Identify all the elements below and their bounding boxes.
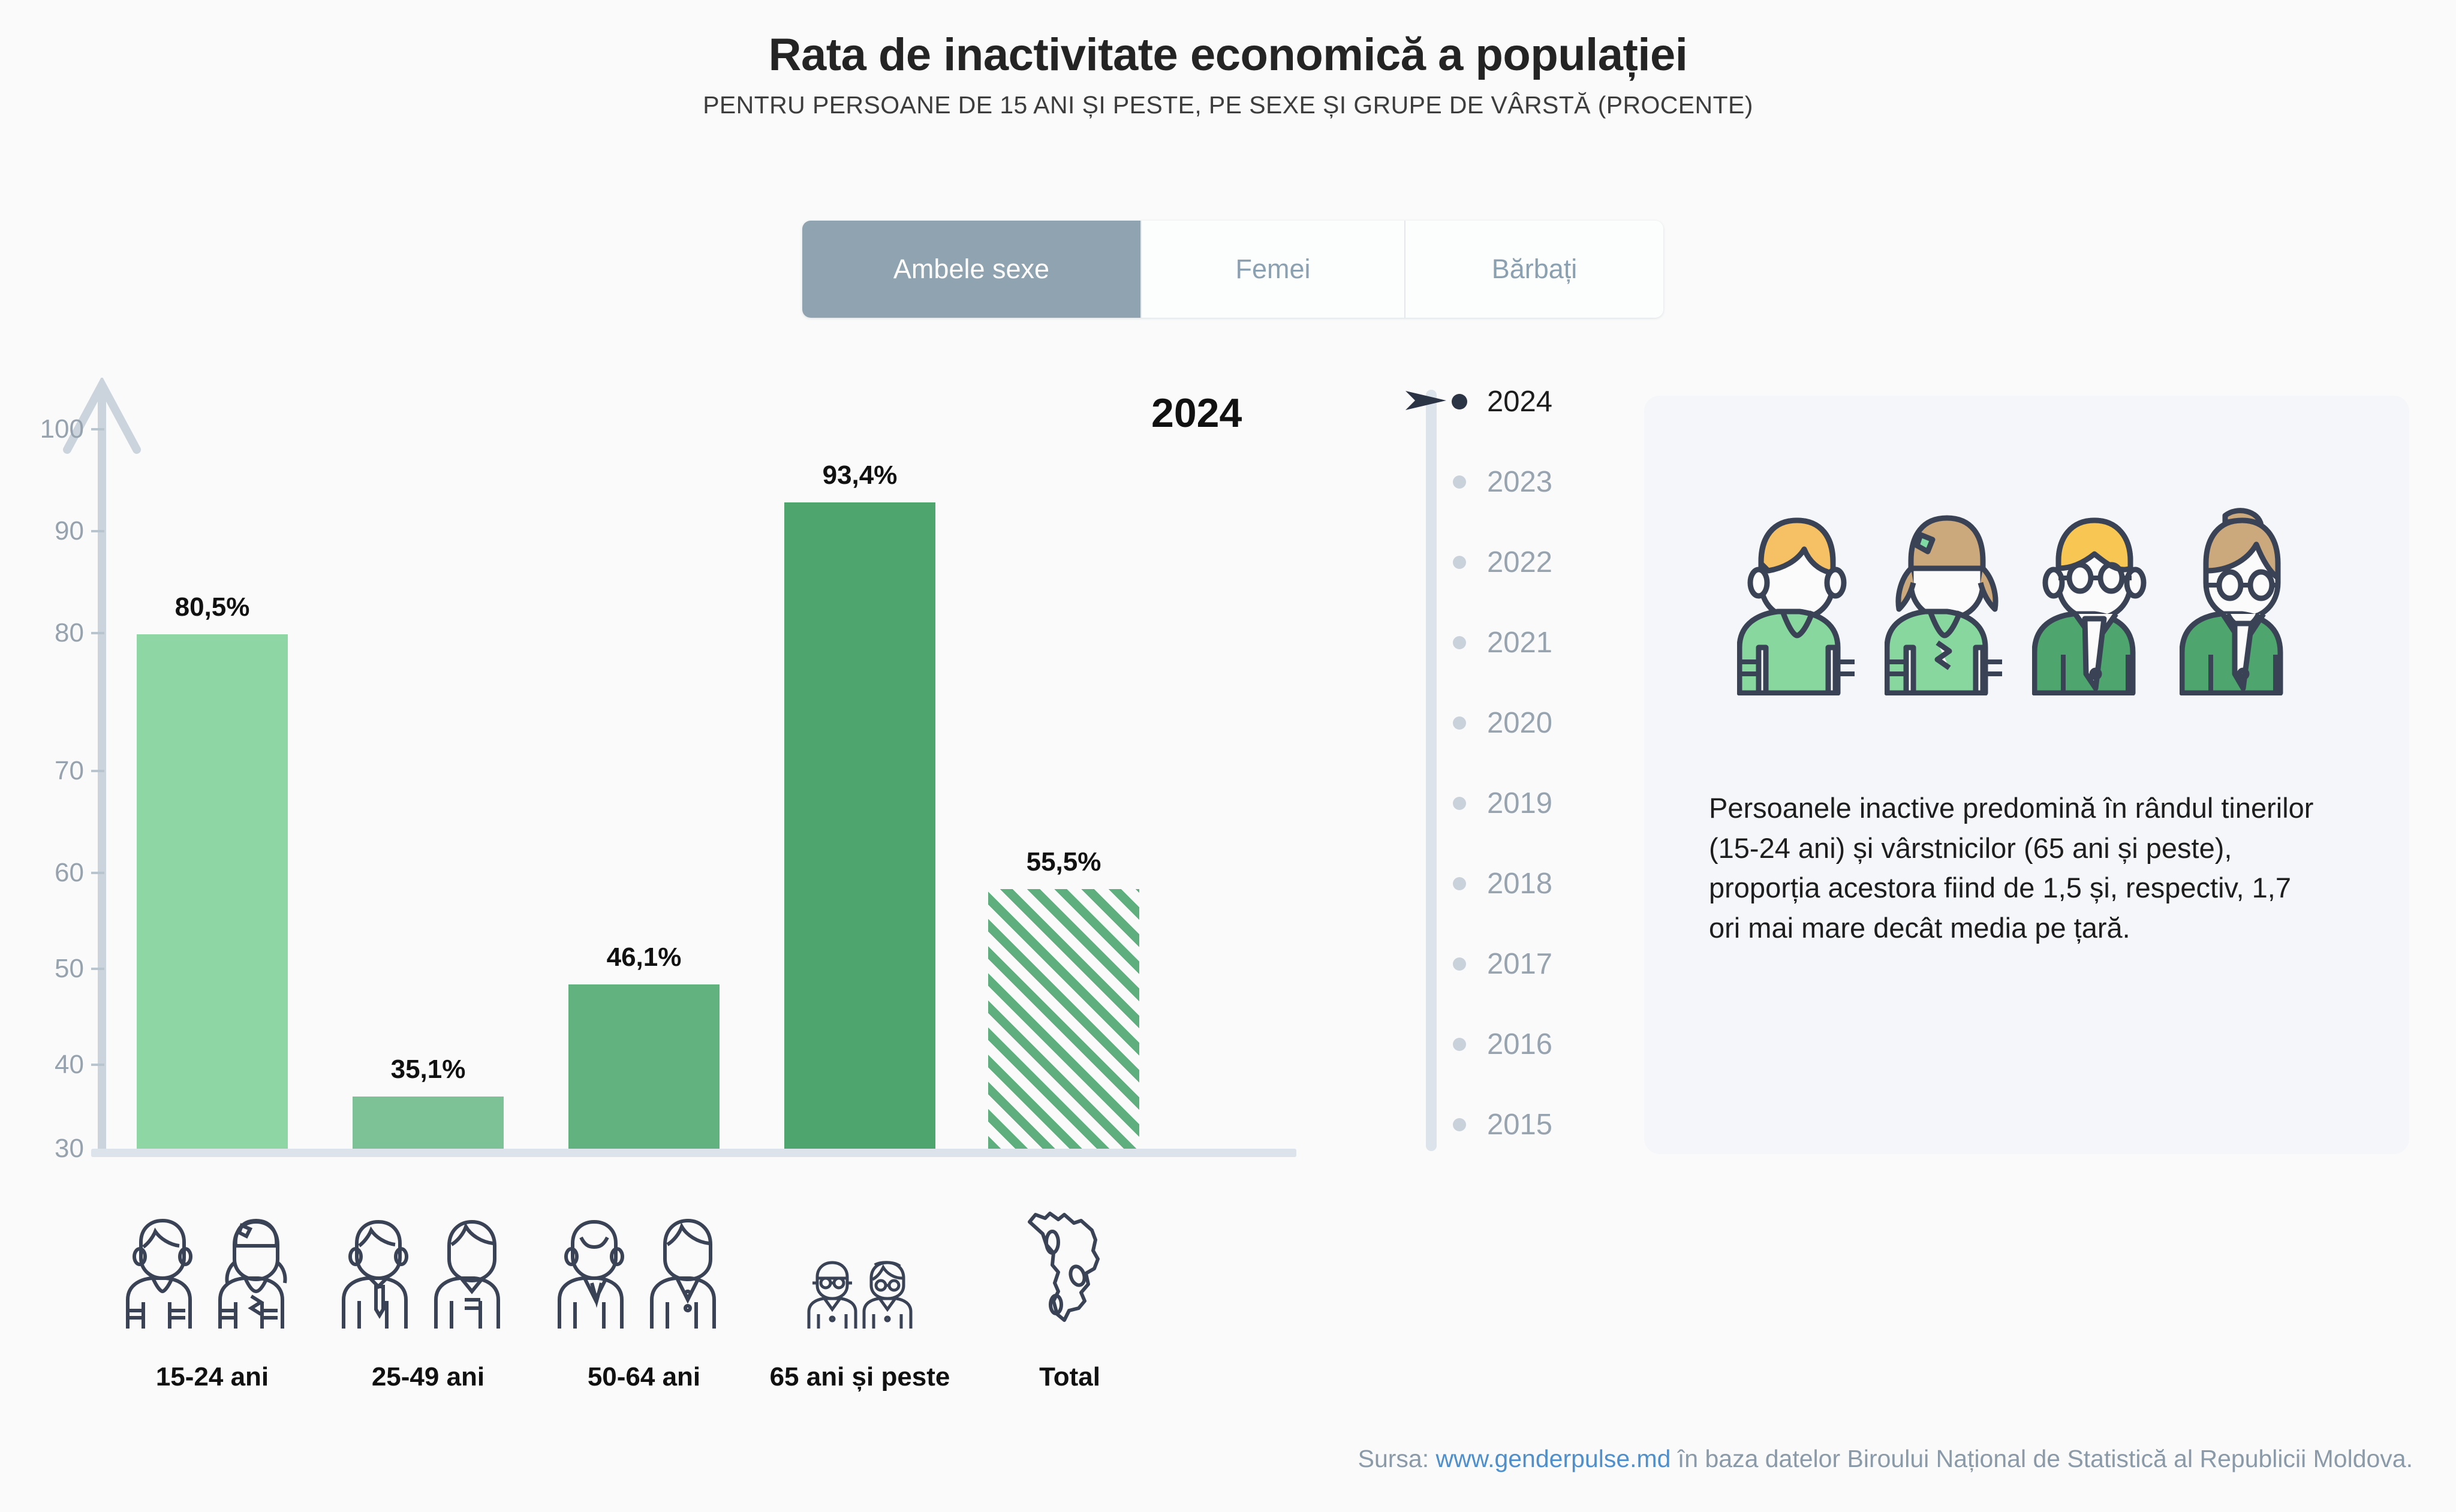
- y-tick-label-60: 60: [18, 858, 84, 888]
- bar-65-si-peste[interactable]: 93,4%: [784, 502, 935, 1149]
- y-tick-label-50: 50: [18, 954, 84, 984]
- y-tick-label-80: 80: [18, 618, 84, 648]
- category-25-49: 25-49 ani: [323, 1199, 534, 1392]
- bar-15-24[interactable]: 80,5%: [137, 634, 288, 1149]
- timeline-year-label: 2024: [1487, 385, 1552, 418]
- info-figures: [1644, 504, 2409, 695]
- timeline-dot: [1453, 475, 1466, 489]
- timeline-year-label: 2016: [1487, 1028, 1552, 1061]
- category-label-total: Total: [964, 1362, 1175, 1392]
- timeline-dot: [1453, 957, 1466, 971]
- bar-chart: 100 90 80 70 60 50 40 30 2024 80,5% 35,1…: [0, 0, 1355, 1512]
- man-glasses-figure-icon: [2032, 504, 2169, 695]
- infographic-page: Rata de inactivitate economică a populaț…: [0, 0, 2456, 1512]
- timeline-year-label: 2017: [1487, 947, 1552, 981]
- bar-value-15-24: 80,5%: [137, 592, 288, 622]
- category-label-15-24: 15-24 ani: [107, 1362, 318, 1392]
- timeline-dot: [1453, 556, 1466, 569]
- timeline-dot: [1452, 394, 1467, 409]
- category-15-24: 15-24 ani: [107, 1199, 318, 1392]
- y-tick-label-30: 30: [18, 1134, 84, 1164]
- y-tick-40: [91, 1064, 104, 1066]
- young-couple-icon: [107, 1199, 318, 1331]
- timeline-year-2016[interactable]: 2016: [1403, 1026, 1655, 1062]
- source-suffix: în baza datelor Biroului Național de Sta…: [1671, 1445, 2413, 1472]
- moldova-map-icon: [964, 1199, 1175, 1331]
- bar-value-65-si-peste: 93,4%: [784, 460, 935, 490]
- timeline-dot: [1453, 797, 1466, 810]
- timeline-year-label: 2023: [1487, 465, 1552, 499]
- y-tick-50: [91, 968, 104, 970]
- timeline-dot: [1453, 1038, 1466, 1051]
- source-link[interactable]: www.genderpulse.md: [1436, 1445, 1671, 1472]
- y-tick-label-100: 100: [18, 414, 84, 444]
- chart-year-heading: 2024: [1151, 390, 1242, 436]
- category-65-si-peste: 65 ani și peste: [754, 1199, 965, 1392]
- x-axis-baseline: [91, 1149, 1296, 1157]
- category-50-64: 50-64 ani: [538, 1199, 750, 1392]
- timeline-year-2018[interactable]: 2018: [1403, 866, 1655, 902]
- category-total: Total: [964, 1199, 1175, 1392]
- y-tick-90: [91, 530, 104, 532]
- timeline-year-2023[interactable]: 2023: [1403, 464, 1655, 500]
- timeline-year-2021[interactable]: 2021: [1403, 625, 1655, 661]
- timeline-year-2019[interactable]: 2019: [1403, 785, 1655, 821]
- category-label-65-si-peste: 65 ani și peste: [754, 1362, 965, 1392]
- tab-barbati[interactable]: Bărbați: [1405, 221, 1663, 318]
- timeline-year-2017[interactable]: 2017: [1403, 946, 1655, 982]
- y-tick-60: [91, 872, 104, 874]
- y-tick-70: [91, 770, 104, 772]
- timeline-year-label: 2019: [1487, 787, 1552, 820]
- timeline-year-2015[interactable]: 2015: [1403, 1107, 1655, 1143]
- bar-value-50-64: 46,1%: [568, 942, 720, 972]
- girl-figure-icon: [1885, 504, 2021, 695]
- y-tick-100: [91, 428, 104, 430]
- elderly-couple-icon: [754, 1199, 965, 1331]
- timeline-year-label: 2020: [1487, 706, 1552, 740]
- bar-50-64[interactable]: 46,1%: [568, 984, 720, 1149]
- timeline-year-2024[interactable]: 2024: [1403, 384, 1655, 420]
- timeline-year-label: 2015: [1487, 1108, 1552, 1141]
- timeline-year-label: 2021: [1487, 626, 1552, 659]
- info-panel: Persoanele inactive predomină în rândul …: [1644, 396, 2409, 1154]
- bar-25-49[interactable]: 35,1%: [353, 1097, 504, 1149]
- timeline-dot: [1453, 636, 1466, 649]
- woman-glasses-figure-icon: [2180, 504, 2316, 695]
- bar-total[interactable]: 55,5%: [988, 889, 1139, 1149]
- info-panel-text: Persoanele inactive predomină în rândul …: [1709, 788, 2320, 948]
- y-tick-label-40: 40: [18, 1050, 84, 1080]
- bar-value-total: 55,5%: [988, 847, 1139, 877]
- year-timeline: 2024 2023 2022 2021 2020 2019 2018 2017: [1403, 384, 1655, 1163]
- boy-figure-icon: [1737, 504, 1874, 695]
- y-tick-label-90: 90: [18, 516, 84, 546]
- y-tick-80: [91, 632, 104, 634]
- timeline-dot: [1453, 877, 1466, 890]
- bar-value-25-49: 35,1%: [353, 1055, 504, 1085]
- category-label-50-64: 50-64 ani: [538, 1362, 750, 1392]
- y-tick-label-70: 70: [18, 756, 84, 786]
- timeline-dot: [1453, 716, 1466, 730]
- timeline-year-label: 2018: [1487, 867, 1552, 900]
- source-footer: Sursa: www.genderpulse.md în baza datelo…: [0, 1445, 2456, 1473]
- source-prefix: Sursa:: [1358, 1445, 1436, 1472]
- midage-couple-icon: [538, 1199, 750, 1331]
- category-label-25-49: 25-49 ani: [323, 1362, 534, 1392]
- timeline-dot: [1453, 1118, 1466, 1131]
- timeline-year-2022[interactable]: 2022: [1403, 544, 1655, 580]
- timeline-year-label: 2022: [1487, 546, 1552, 579]
- timeline-year-2020[interactable]: 2020: [1403, 705, 1655, 741]
- adult-couple-icon: [323, 1199, 534, 1331]
